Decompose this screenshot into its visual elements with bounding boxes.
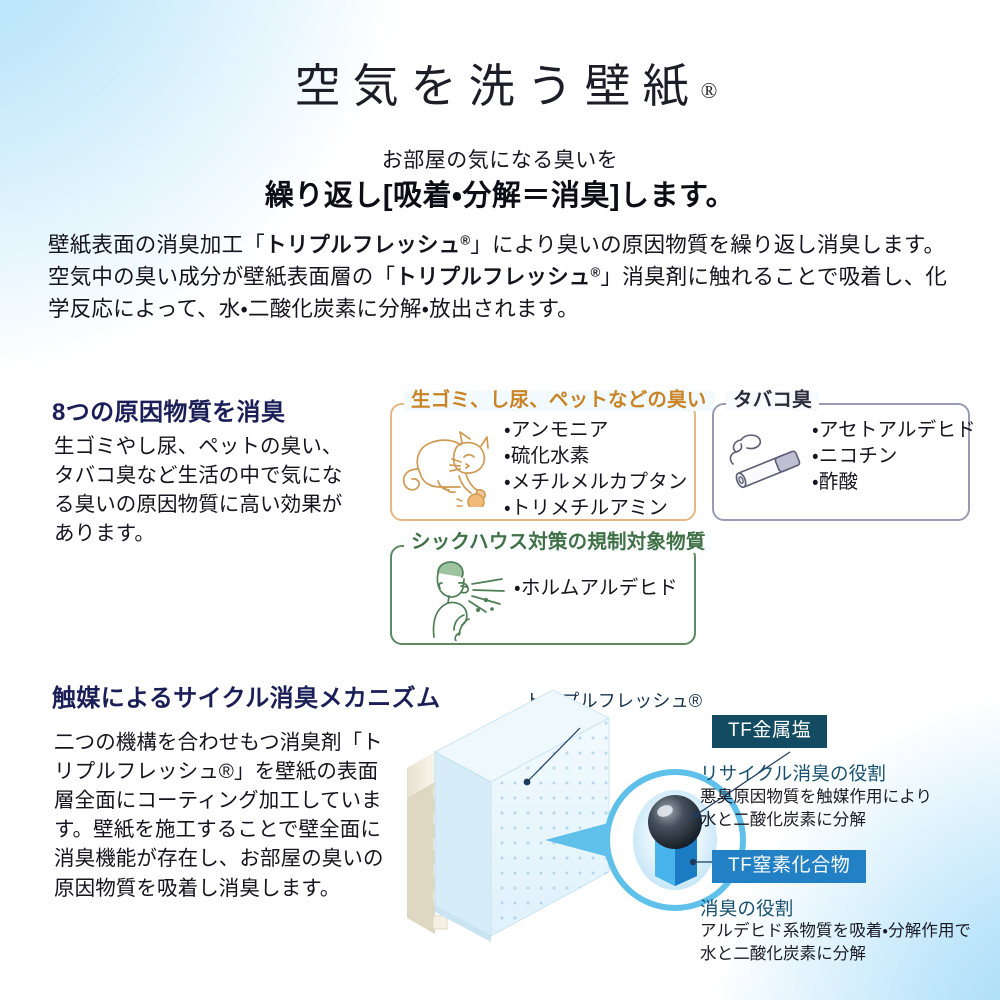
page-title: 空気を洗う壁紙® [0,50,1000,116]
odor-item: ・ニコチン [812,443,976,469]
odor-box-garbage-items: ・アンモニア ・硫化水素 ・メチルメルカプタン ・トリメチルアミン [504,417,688,522]
infographic-page: 空気を洗う壁紙® お部屋の気になる臭いを 繰り返し[吸着・分解＝消臭]します。 … [0,0,1000,1000]
tf-metal-salt-sphere [648,795,702,849]
odor-box-sick-house-items: ・ホルムアルデヒド [514,575,678,601]
odor-box-sick-house: シックハウス対策の規制対象物質 [390,545,696,645]
odor-item: ・酢酸 [812,469,976,495]
odor-box-tobacco-legend: タバコ臭 [726,391,819,411]
detail-line: 悪臭原因物質を触媒作用により [700,786,932,809]
odor-item: ・アンモニア [504,417,688,443]
page-title-text: 空気を洗う壁紙 [295,61,701,112]
detail-tf-nitrogen-compound: アルデヒド系物質を吸着・分解作用で 水と二酸化炭素に分解 [700,920,971,966]
role-tf-nitrogen-compound: 消臭の役割 [700,895,794,921]
registered-mark: ® [701,78,718,103]
odor-section-body: 生ゴミやし尿、ペットの臭い、タバコ臭など生活の中で気になる臭いの原因物質に高い効… [54,432,354,548]
detail-line: アルデヒド系物質を吸着・分解作用で [700,920,971,943]
intro-paragraph: 壁紙表面の消臭加工「トリプルフレッシュ®」により臭いの原因物質を繰り返し消臭しま… [48,230,956,325]
badge-tf-nitrogen-compound: TF窒素化合物 [712,850,866,883]
odor-item: ・アセトアルデヒド [812,417,976,443]
intro-sup-2: ® [591,264,601,279]
subtitle-line-2: 繰り返し[吸着・分解＝消臭]します。 [0,172,1000,214]
detail-tf-metal-salt: 悪臭原因物質を触媒作用により 水と二酸化炭素に分解 [700,786,932,832]
mechanism-section-heading: 触媒によるサイクル消臭メカニズム [52,678,440,713]
leader-dot [693,812,699,818]
detail-line: 水と二酸化炭素に分解 [700,809,932,832]
odor-box-garbage: 生ゴミ、し尿、ペットなどの臭い [390,403,696,521]
sneezing-person-icon [414,555,518,641]
wallpaper-surface-layer [435,690,609,942]
leader-dot [690,859,696,865]
odor-section-heading: 8つの原因物質を消臭 [52,392,285,427]
cat-icon [398,419,506,507]
cigarette-icon [720,421,816,501]
badge-tf-metal-salt: TF金属塩 [712,715,827,748]
odor-box-tobacco: タバコ臭 ・アセトアルデヒド ・ニコチン ・酢酸 [712,403,970,521]
ball-icon [468,494,484,507]
odor-item: ・硫化水素 [504,443,688,469]
intro-sup-1: ® [460,233,470,248]
odor-item: ・ホルムアルデヒド [514,575,678,601]
odor-box-garbage-legend: 生ゴミ、し尿、ペットなどの臭い [404,391,714,411]
intro-part-1: 壁紙表面の消臭加工「 [48,233,265,257]
mechanism-section-body: 二つの機構を合わせもつ消臭剤「トリプルフレッシュ®」を壁紙の表面層全面にコーティ… [54,728,384,903]
odor-item: ・トリメチルアミン [504,495,688,521]
odor-box-sick-house-legend: シックハウス対策の規制対象物質 [404,533,713,553]
role-tf-metal-salt: リサイクル消臭の役割 [700,760,886,786]
subtitle-line-1: お部屋の気になる臭いを [0,144,1000,174]
intro-brand-2: トリプルフレッシュ [395,265,590,289]
odor-box-tobacco-items: ・アセトアルデヒド ・ニコチン ・酢酸 [812,417,976,495]
leader-dot [524,779,531,786]
mechanism-diagram: トリプルフレッシュ® 消臭剤 [395,690,1000,990]
intro-brand-1: トリプルフレッシュ [265,233,460,257]
odor-item: ・メチルメルカプタン [504,469,688,495]
detail-line: 水と二酸化炭素に分解 [700,943,971,966]
